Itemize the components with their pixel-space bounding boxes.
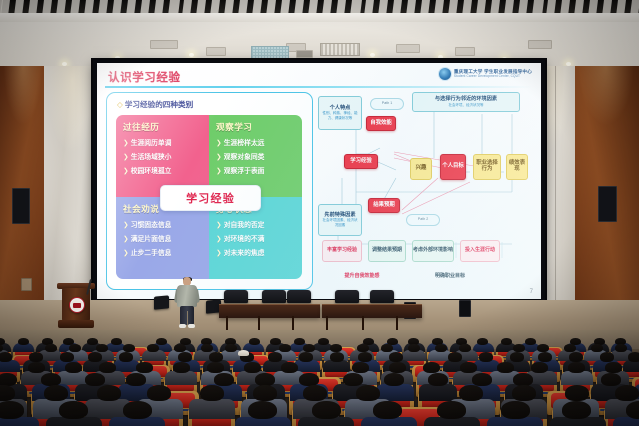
audience-member-head [87, 338, 98, 345]
audience-member-head [472, 373, 492, 386]
audience-member-head [384, 373, 404, 386]
audience-member-shoulders [561, 371, 593, 385]
audience-member-head [136, 362, 153, 373]
audience-member-head [568, 362, 585, 373]
logo-name-en: Student Career Development Center, CQUT [454, 75, 532, 78]
audience-member-head [479, 352, 493, 362]
audience-member-head [303, 385, 327, 401]
quadrant-grid: 过往经历 ❯生涯阅历单调 ❯生活场域狭小 ❯校园环境孤立 观察学习 ❯生涯榜样太… [116, 115, 302, 279]
audience-member-head [268, 352, 282, 362]
audience-member-shoulders [419, 384, 457, 401]
audience-member-head [318, 338, 329, 345]
audience-member-head [156, 338, 167, 345]
stage-chair [370, 290, 394, 303]
lectern-base [58, 320, 94, 328]
audience-member-head [356, 385, 380, 401]
audience-member-head [601, 373, 621, 386]
wall-seam [555, 66, 556, 312]
audience-member-head [28, 362, 45, 373]
audience-member-head [628, 352, 639, 362]
audience-member-head [423, 362, 440, 373]
audience-member-head [605, 362, 622, 373]
audience-member-head [96, 344, 108, 352]
audience-member-head [303, 344, 315, 352]
audience-member-head [373, 401, 402, 419]
action-enrich-learning: 丰富学习经验 [322, 240, 362, 262]
center-label-badge: 学习经验 [160, 185, 261, 211]
ceiling-air-grill [320, 43, 360, 56]
audience-member-head [537, 344, 549, 352]
slide-page-number: 7 [530, 289, 533, 295]
audience-member-head [281, 362, 298, 373]
quadrant-title: 观察学习 [216, 121, 297, 133]
audience-member-head [123, 344, 135, 352]
audience-member-head [569, 352, 583, 362]
ceiling-vent [206, 47, 226, 56]
stage-chair [287, 290, 311, 303]
audience-member-head [173, 362, 190, 373]
organization-logo: 重庆理工大学 学生职业发展指导中心 Student Career Develop… [439, 68, 532, 80]
audience-member-head [357, 344, 369, 352]
audience-member-head [174, 344, 186, 352]
quadrant-item: ❯生涯阅历单调 [123, 137, 204, 147]
wall-marble-left [44, 66, 100, 312]
audience-member-head [111, 338, 122, 345]
audience-member-head [381, 344, 393, 352]
university-seal-icon [69, 297, 85, 313]
audience-seating [0, 349, 639, 426]
node-interest: 兴趣 [410, 158, 432, 180]
stage-chair [224, 290, 248, 303]
audience-member-head [69, 344, 81, 352]
stage-chair [335, 290, 359, 303]
audience-member-shoulders [165, 371, 197, 385]
node-prior-special-factors: 先前特殊因素 社会环境因素、经济状况因素 [318, 204, 362, 236]
node-career-choice-behavior: 职业选择行为 [473, 154, 501, 180]
node-environment-factors: 与选择行为邻近的环境因素 社会环境、经济状况等 [412, 92, 520, 112]
node-outcome-expectation: 结果预期 [368, 198, 400, 213]
audience-member-head [562, 401, 591, 419]
panel-subtitle-text: 学习经验的四种类别 [125, 100, 193, 109]
ceiling-vent [150, 40, 178, 49]
audience-member-shoulders [57, 371, 89, 385]
quadrant-item: ❯满足片面信息 [123, 233, 204, 243]
annotation-cloud-top: Path 1 [370, 98, 404, 110]
panel-subtitle: ◇学习经验的四种类别 [117, 99, 193, 110]
quadrant-item: ❯习惯固态信息 [123, 219, 204, 229]
audience-member-head [270, 338, 281, 345]
stage-chair [262, 290, 286, 303]
diamond-bullet-icon: ◇ [117, 100, 123, 109]
node-performance: 绩效表现 [506, 154, 528, 180]
audience-member-head [330, 344, 342, 352]
presentation-slide: 认识学习经验 重庆理工大学 学生职业发展指导中心 Student Career … [97, 63, 541, 299]
audience-member-head [600, 352, 614, 362]
audience-member-head [358, 352, 372, 362]
audience-member-head [343, 373, 363, 386]
presenter-shoe-right [188, 324, 195, 328]
action-adjust-expectation: 调整结果预期 [368, 240, 406, 262]
quadrant-item: ❯对环境的不满 [216, 233, 297, 243]
audience-member-head [119, 352, 133, 362]
audience-member-head [178, 352, 192, 362]
action-consider-environment: 考虑外部环境影响 [412, 240, 454, 262]
audience-member-head [448, 352, 462, 362]
audience-member-head [459, 385, 483, 401]
audience-member-head [512, 385, 536, 401]
auditorium-scene: 认识学习经验 重庆理工大学 学生职业发展指导中心 Student Career … [0, 0, 639, 426]
action-commit-to-career: 投入生涯行动 [460, 240, 500, 262]
audience-member-head [312, 401, 341, 419]
outcome-clarify-career-goal: 明确职业目标 [428, 268, 472, 286]
audience-member-head [497, 362, 514, 373]
presenter-torso [177, 285, 197, 307]
audience-member-head [60, 352, 74, 362]
audience-member-head [85, 373, 105, 386]
node-self-efficacy: 自我效能 [366, 116, 396, 131]
audience-member-head [299, 352, 313, 362]
ceiling-air-diffuser [251, 46, 289, 60]
stage-monitor-speaker [154, 295, 169, 309]
audience-member-head [428, 373, 448, 386]
audience-member-head [330, 352, 344, 362]
audience-member-head [244, 362, 261, 373]
audience-member-head [59, 401, 88, 419]
audience-member-head [29, 352, 43, 362]
audience-member-head [253, 385, 277, 401]
downlight [370, 53, 375, 57]
audience-member-head [45, 344, 57, 352]
audience-member-head [626, 401, 639, 419]
annotation-cloud-bottom: Path 2 [406, 214, 440, 226]
ceiling-vent [528, 40, 552, 49]
audience-member-head [294, 338, 305, 345]
node-personal-characteristics: 个人特点 性别、种族、神经、能力、健康状况等 [318, 96, 362, 130]
audience-member-head [501, 401, 530, 419]
audience-member-head [97, 385, 121, 401]
ceiling-vent [455, 47, 475, 56]
wall-vent-left [12, 188, 30, 224]
audience-member-head [408, 344, 420, 352]
audience-member-head [525, 338, 536, 345]
audience-member-head [88, 352, 102, 362]
audience-member-head [147, 385, 171, 401]
stage-table [219, 304, 320, 318]
audience-member-head [501, 338, 512, 345]
audience-member-head [126, 373, 146, 386]
audience-member-head [477, 338, 488, 345]
audience-member-head [200, 385, 224, 401]
audience-member-head [460, 362, 477, 373]
audience-member-head [214, 373, 234, 386]
audience-member-head [44, 385, 68, 401]
quadrant-item: ❯止步二手信息 [123, 247, 204, 257]
node-learning-experience: 学习经验 [344, 154, 378, 169]
audience-member-head [249, 338, 260, 345]
audience-member-head [615, 344, 627, 352]
audience-member-head [615, 385, 639, 401]
audience-member-head [565, 385, 589, 401]
audience-member-head [207, 362, 224, 373]
audience-member-head [389, 352, 403, 362]
wall-vent-right [598, 186, 617, 222]
quadrant-item: ❯观察对象同类 [216, 151, 297, 161]
audience-member-head [201, 344, 213, 352]
stage-table [322, 304, 422, 318]
audience-member-head [591, 344, 603, 352]
audience-member-head [437, 401, 466, 419]
audience-member-cap [238, 350, 249, 356]
ceiling-lip [0, 13, 639, 22]
audience-member-head [209, 352, 223, 362]
audience-member-head [18, 338, 29, 345]
audience-member-head [0, 401, 24, 419]
wall-outlet-left [21, 278, 32, 291]
lectern [60, 283, 92, 329]
audience-member-head [389, 362, 406, 373]
quadrant-item: ❯对未来的焦虑 [216, 247, 297, 257]
outcome-boost-self-efficacy: 提升自我效能感 [340, 268, 384, 286]
audience-member-head [65, 362, 82, 373]
quadrant-item: ❯生涯榜样太远 [216, 137, 297, 147]
audience-member-head [459, 344, 471, 352]
stage-loudspeaker [459, 300, 471, 317]
slide-title: 认识学习经验 [108, 69, 181, 85]
four-categories-panel: ◇学习经验的四种类别 过往经历 ❯生涯阅历单调 ❯生活场域狭小 ❯校园环境孤立 … [106, 92, 313, 290]
audience-member-head [352, 362, 369, 373]
ceiling-speaker [296, 50, 313, 58]
audience-member-head [99, 362, 116, 373]
presenter [174, 277, 200, 329]
quadrant-item: ❯校园环境孤立 [123, 165, 204, 175]
audience-member-head [531, 362, 548, 373]
audience-member-head [510, 352, 524, 362]
quadrant-item: ❯观察浮于表面 [216, 165, 297, 175]
audience-member-head [279, 344, 291, 352]
quadrant-item: ❯对自我的否定 [216, 219, 297, 229]
audience-member-head [0, 385, 15, 401]
logo-emblem-icon [439, 68, 451, 80]
scct-model-diagram: 个人特点 性别、种族、神经、能力、健康状况等 与选择行为邻近的环境因素 社会环境… [316, 92, 529, 288]
presenter-shoe-left [179, 324, 186, 328]
quadrant-item: ❯生活场域狭小 [123, 151, 204, 161]
audience-member-head [225, 344, 237, 352]
downlight [438, 55, 443, 59]
audience-member-head [248, 401, 277, 419]
audience-member-head [0, 352, 12, 362]
audience-member-shoulders [189, 399, 235, 419]
audience-member-head [123, 401, 152, 419]
audience-member-head [564, 344, 576, 352]
audience-member-head [435, 344, 447, 352]
downlight [189, 53, 194, 57]
node-personal-goal: 个人目标 [440, 154, 466, 180]
audience-member-head [147, 344, 159, 352]
ceiling-vent [396, 44, 420, 53]
audience-member-head [538, 352, 552, 362]
audience-member-head [513, 344, 525, 352]
quadrant-title: 过往经历 [123, 121, 204, 133]
title-underline [105, 86, 533, 88]
center-label-text: 学习经验 [186, 190, 235, 206]
